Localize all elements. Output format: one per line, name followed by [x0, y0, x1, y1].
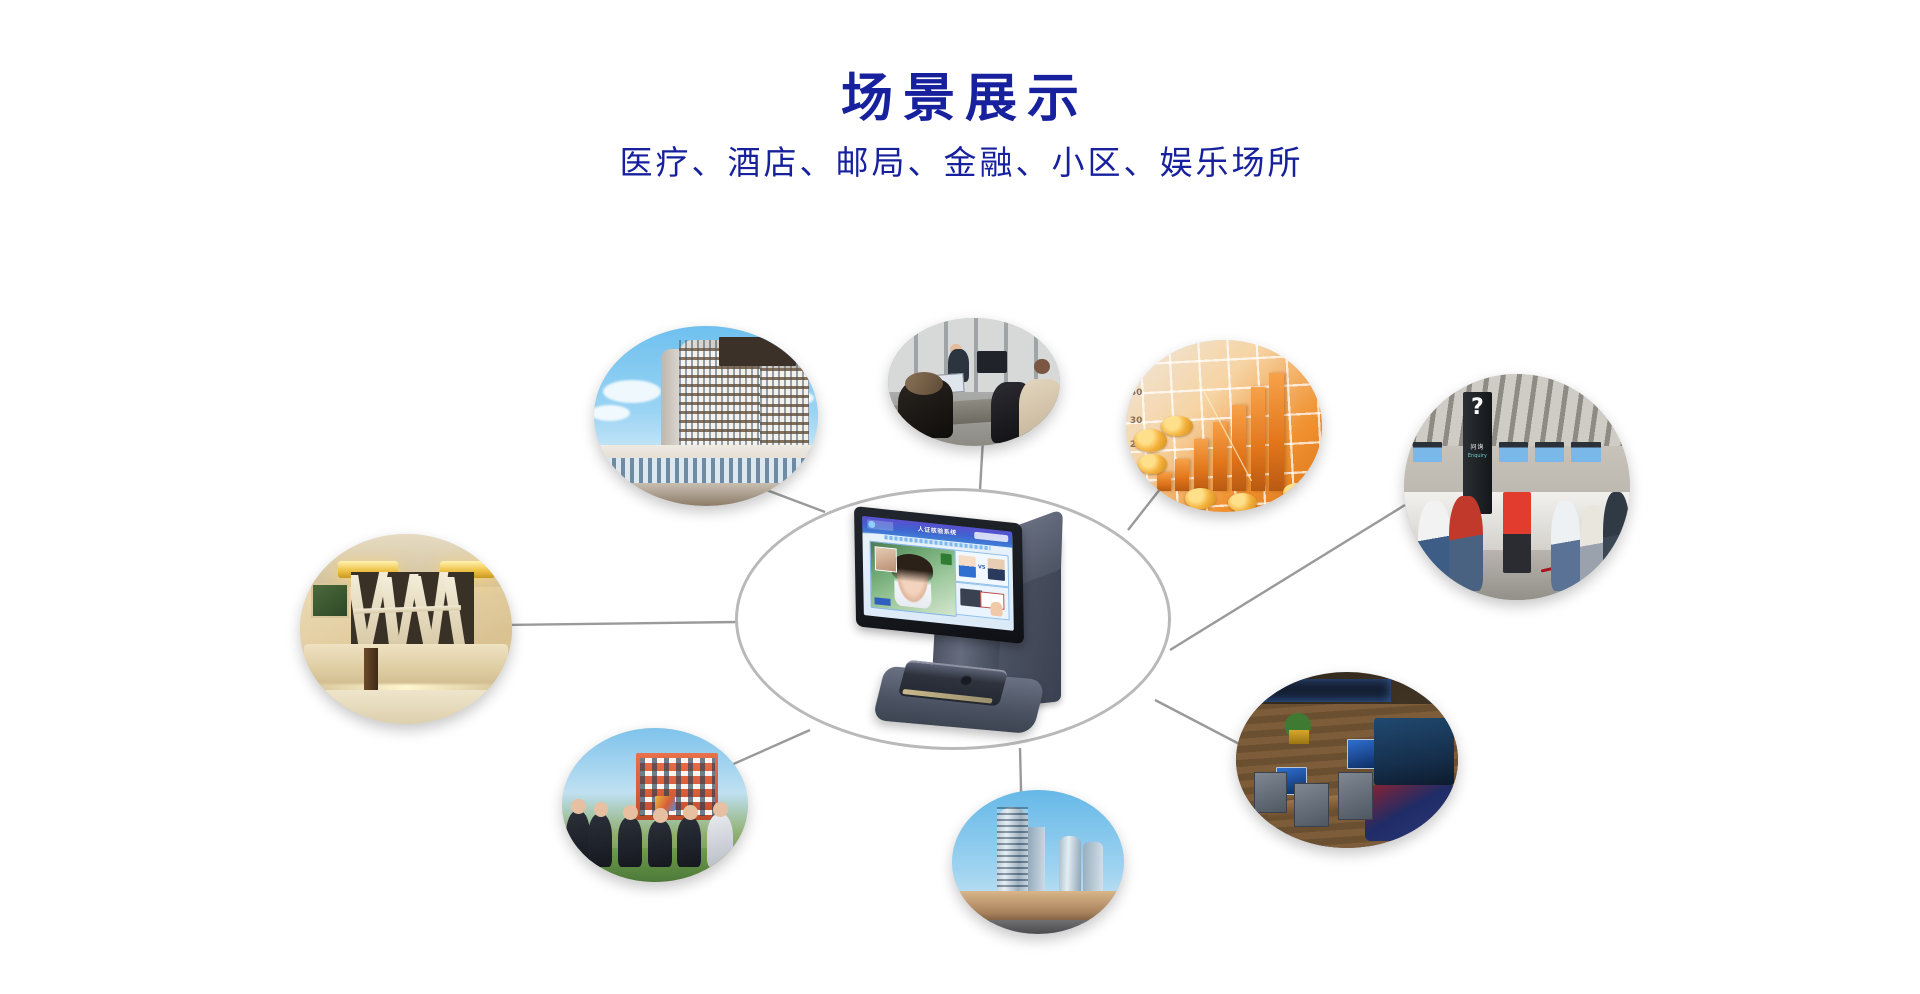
scene-node-medical[interactable]: [594, 326, 818, 506]
guide-monitor-icon: [960, 588, 982, 607]
reference-photo-thumbnail: [875, 546, 897, 572]
residential-towers-photo: [952, 790, 1124, 934]
scanner-lens-icon: [958, 675, 974, 687]
screen-right-column: VS: [955, 550, 1008, 621]
finance-axis-label-40: 40: [1130, 388, 1143, 398]
scene-node-post-office[interactable]: [888, 318, 1060, 446]
scene-node-entertainment[interactable]: [1236, 672, 1458, 848]
verified-badge-icon: [941, 553, 952, 565]
scene-diagram: 人证核验系统 VS: [0, 0, 1920, 994]
kiosk-front-bezel: 人证核验系统 VS: [854, 506, 1024, 644]
connector-hotel: [500, 622, 737, 625]
question-mark-icon: ?: [1467, 397, 1487, 419]
internet-cafe-photo: [1236, 672, 1458, 848]
comparison-vs-label: VS: [978, 564, 986, 571]
scene-node-community[interactable]: [952, 790, 1124, 934]
face-verification-kiosk[interactable]: 人证核验系统 VS: [855, 515, 1065, 730]
guide-hand-icon: [990, 601, 1002, 616]
live-camera-preview: [870, 541, 957, 617]
scene-node-transport[interactable]: ? 问询 Enquiry: [1404, 374, 1630, 600]
airport-enquiry-photo: ? 问询 Enquiry: [1404, 374, 1630, 600]
financial-chart-photo: 50 40 30 20: [1126, 340, 1322, 512]
scene-node-hotel[interactable]: [300, 534, 512, 724]
hospital-building-photo: [594, 326, 818, 506]
avatar-live-icon: [959, 555, 976, 578]
scene-node-school[interactable]: [562, 728, 748, 882]
finance-axis-label-50: 50: [1130, 364, 1143, 374]
id-card-reader-guide: [955, 582, 1010, 621]
hotel-lobby-photo: [300, 534, 512, 724]
kiosk-screen[interactable]: 人证核验系统 VS: [862, 516, 1014, 631]
scene-node-finance[interactable]: 50 40 30 20: [1126, 340, 1322, 512]
campus-students-photo: [562, 728, 748, 882]
connector-transport: [1170, 505, 1405, 650]
avatar-id-icon: [988, 558, 1005, 581]
service-counter-photo: [888, 318, 1060, 446]
enquiry-sign-cn: 问询: [1463, 442, 1492, 451]
finance-axis-label-30: 30: [1130, 416, 1143, 426]
camera-status-tag: [875, 597, 891, 606]
enquiry-sign-en: Enquiry: [1463, 453, 1492, 459]
